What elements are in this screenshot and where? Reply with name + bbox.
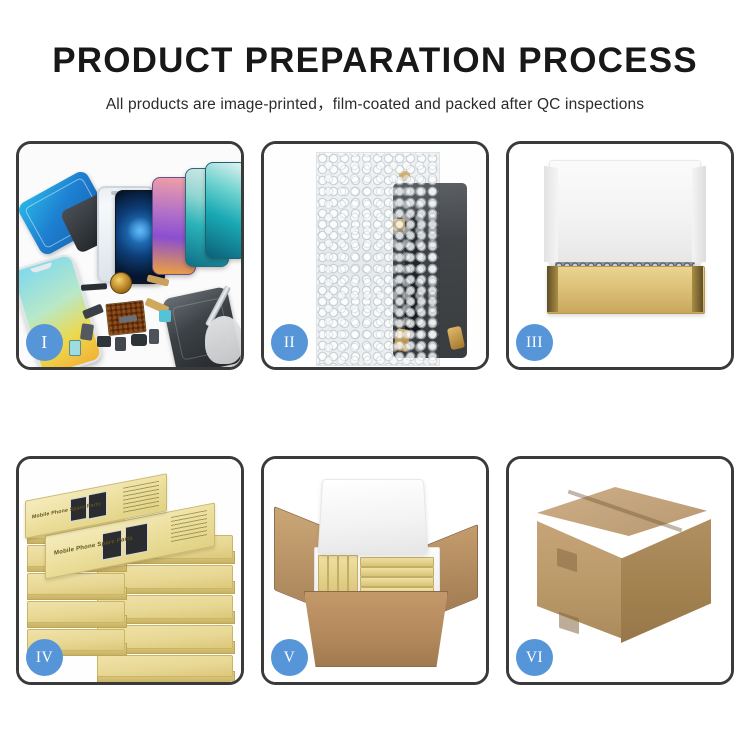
stacked-box [97,655,233,677]
printed-spec-text-lines [123,481,159,514]
process-step-grid: I II [16,141,734,686]
small-part [159,310,171,322]
header: PRODUCT PREPARATION PROCESS All products… [0,0,750,114]
packed-box [338,555,348,597]
carton-front-wall [304,591,448,667]
packed-box [328,555,338,597]
box-side-right [692,266,703,312]
kraft-inner-box [547,266,705,314]
step-badge-5: V [271,639,308,676]
small-part [149,329,159,344]
step-badge-4: IV [26,639,63,676]
small-part [115,337,126,351]
step-badge-2: II [271,324,308,361]
speaker-coil-part [110,272,132,294]
step-badge-1: I [26,324,63,361]
packed-box [360,567,434,577]
white-foam-lid [549,160,701,272]
step-badge-6: VI [516,639,553,676]
small-part [69,340,81,356]
packed-box [348,555,358,597]
process-step-4: Mobile Phone Spare Parts Mobile Phone Sp… [16,456,244,685]
process-step-5: V [261,456,489,685]
process-step-6: VI [506,456,734,685]
foam-lid-open [318,479,429,554]
packed-box [360,557,434,567]
hand [205,316,241,364]
process-step-1: I [16,141,244,370]
stacked-box [27,573,125,595]
small-part [131,334,147,346]
process-step-3: III [506,141,734,370]
phone-screen-cyan [205,162,241,259]
packed-box [318,555,328,597]
small-part [97,336,111,347]
box-side-left [547,266,558,312]
process-step-2: II [261,141,489,370]
page-subtitle: All products are image-printed，film-coat… [0,92,750,114]
step-badge-3: III [516,324,553,361]
page-title: PRODUCT PREPARATION PROCESS [0,43,750,78]
printed-spec-text-lines [171,510,207,543]
bubble-texture [317,153,439,365]
stacked-box [27,601,125,623]
packed-box [360,577,434,587]
bubble-wrap-bag [316,152,440,366]
product-preparation-infographic: PRODUCT PREPARATION PROCESS All products… [0,0,750,750]
small-part [80,323,94,341]
